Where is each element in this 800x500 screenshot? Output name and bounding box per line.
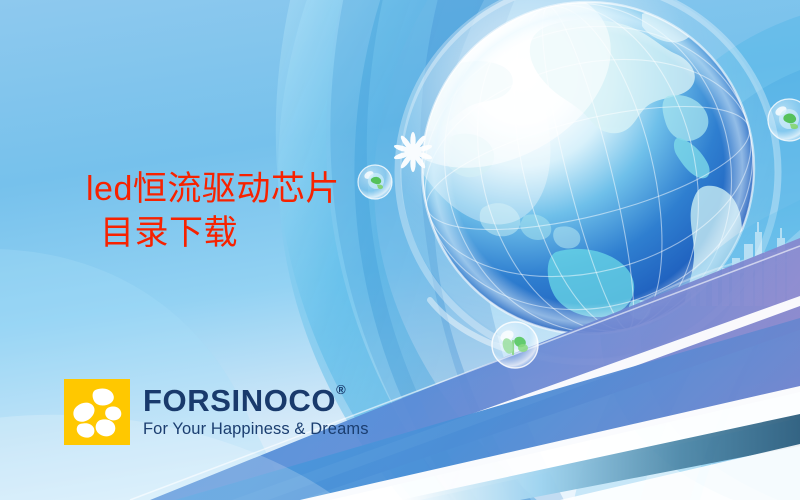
logo-wordmark: FORSINOCO® For Your Happiness & Dreams [143,385,369,439]
brand-name-text: FORSINOCO [143,383,336,418]
company-logo[interactable]: FORSINOCO® For Your Happiness & Dreams [64,379,369,445]
registered-trademark-icon: ® [336,382,346,397]
brand-name: FORSINOCO® [143,385,369,416]
bubble-with-sprout-icon [492,322,538,368]
pinwheel-flower-icon [64,379,130,445]
headline-line-2: 目录下载 [86,212,506,256]
banner-canvas: led恒流驱动芯片 目录下载 FORSINOCO® For Your Happi… [0,0,800,500]
headline-line-1: led恒流驱动芯片 [86,168,506,212]
brand-tagline: For Your Happiness & Dreams [143,420,369,439]
headline-text: led恒流驱动芯片 目录下载 [86,168,506,255]
